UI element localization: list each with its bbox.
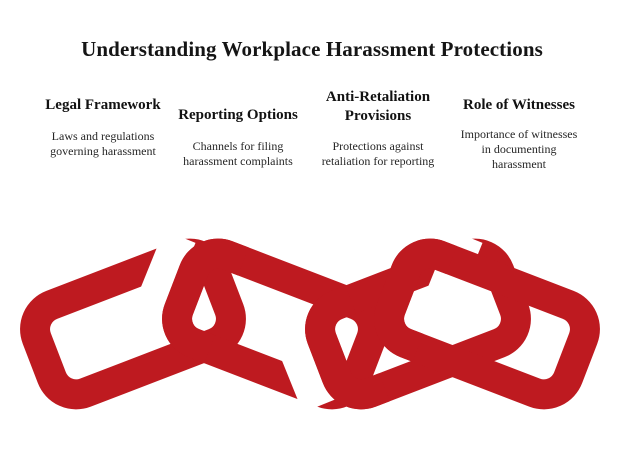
- column-reporting-options: Reporting Options Channels for filing ha…: [175, 88, 301, 169]
- columns-row: Legal Framework Laws and regulations gov…: [0, 88, 624, 218]
- slide-canvas: Understanding Workplace Harassment Prote…: [0, 0, 624, 456]
- page-title: Understanding Workplace Harassment Prote…: [0, 36, 624, 62]
- column-heading: Role of Witnesses: [455, 88, 583, 115]
- column-legal-framework: Legal Framework Laws and regulations gov…: [44, 88, 162, 159]
- column-heading: Legal Framework: [44, 88, 162, 115]
- column-heading: Anti-Retaliation Provisions: [310, 88, 446, 125]
- chain-graphic: [0, 228, 624, 418]
- column-role-of-witnesses: Role of Witnesses Importance of witnesse…: [455, 88, 583, 172]
- column-body: Laws and regulations governing harassmen…: [44, 115, 162, 159]
- chain-links-icon: [0, 228, 624, 418]
- column-anti-retaliation-provisions: Anti-Retaliation Provisions Protections …: [310, 88, 446, 169]
- column-heading: Reporting Options: [175, 88, 301, 125]
- column-body: Protections against retaliation for repo…: [310, 125, 446, 169]
- column-body: Channels for filing harassment complaint…: [175, 125, 301, 169]
- column-body: Importance of witnesses in documenting h…: [455, 115, 583, 173]
